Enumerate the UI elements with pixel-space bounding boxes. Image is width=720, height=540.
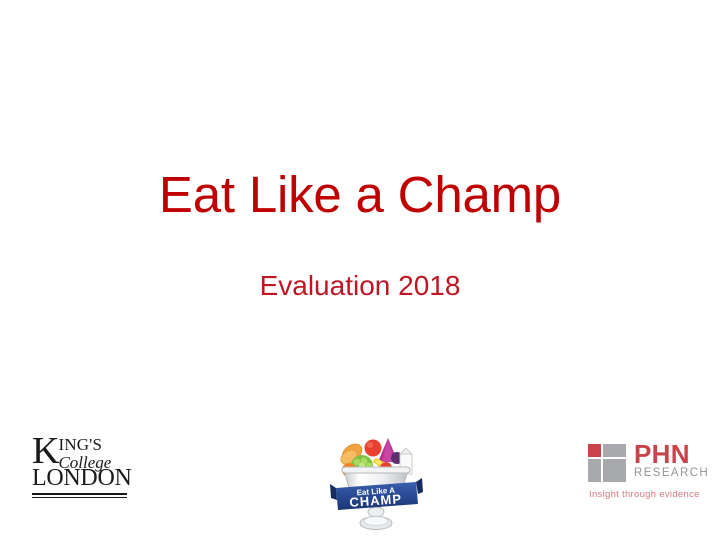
phn-acronym: PHN	[634, 442, 709, 466]
champ-cup-rim	[342, 467, 410, 473]
logo-row: K ING'S College LONDON	[0, 420, 720, 540]
kcl-rule-lower	[32, 497, 127, 498]
phn-square-bottom-left	[588, 459, 601, 482]
kcl-ings-text: ING'S	[58, 437, 111, 453]
title-slide: Eat Like a Champ Evaluation 2018 K ING'S…	[0, 0, 720, 540]
phn-text-stack: PHN RESEARCH	[634, 442, 709, 480]
phn-square-top-right	[603, 444, 626, 457]
champ-banner-main-text: CHAMP	[349, 491, 403, 510]
title-block: Eat Like a Champ	[0, 168, 720, 222]
phn-tagline: Insight through evidence	[589, 489, 704, 500]
kcl-underline-rules	[32, 493, 127, 498]
kcl-k-letter: K	[32, 436, 58, 467]
page-subtitle: Evaluation 2018	[0, 271, 720, 302]
phn-main-row: PHN RESEARCH	[588, 442, 704, 482]
subtitle-block: Evaluation 2018	[0, 271, 720, 302]
champ-cup-knob	[368, 507, 384, 517]
phn-square-bottom-right	[603, 459, 626, 482]
kings-college-london-logo: K ING'S College LONDON	[32, 436, 152, 498]
champ-trophy-icon: Eat Like A CHAMP	[328, 428, 424, 532]
kcl-london-text: LONDON	[32, 466, 152, 490]
page-title: Eat Like a Champ	[0, 168, 720, 222]
phn-division-label: RESEARCH	[634, 467, 709, 480]
phn-grid-icon	[588, 444, 626, 482]
phn-square-top-left	[588, 444, 601, 457]
eat-like-a-champ-logo: Eat Like A CHAMP	[328, 428, 424, 532]
phn-research-logo: PHN RESEARCH Insight through evidence	[588, 442, 704, 500]
kcl-first-line: K ING'S College	[32, 436, 152, 464]
